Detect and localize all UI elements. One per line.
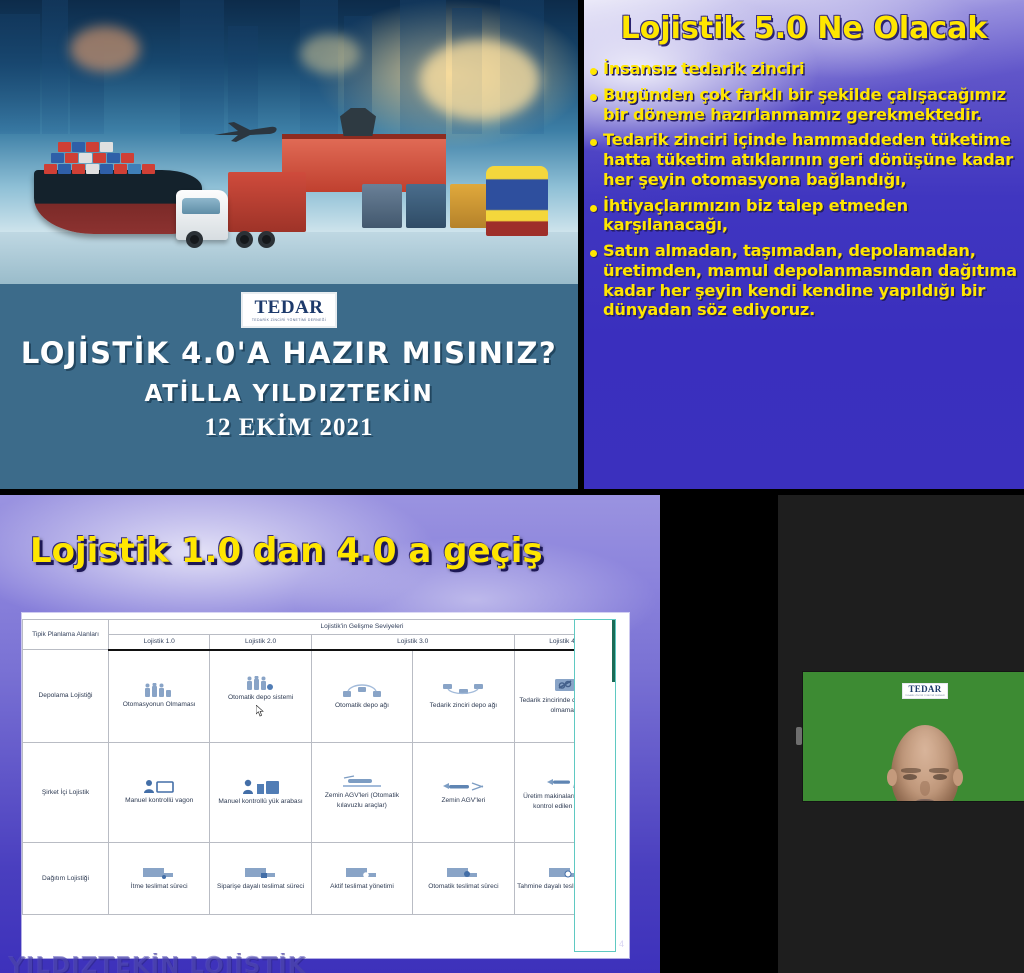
- tedar-logo: TEDAR TEDARİK ZİNCİRİ YÖNETİMİ DERNEĞİ: [902, 683, 948, 699]
- table-cell: Zemin AGV'leri (Otomatik kılavuzlu araçl…: [311, 743, 412, 843]
- bullets-slide-title: Lojistik 5.0 Ne Olacak: [584, 11, 1024, 46]
- bullet-dot-icon: [590, 68, 597, 75]
- quay-ground: [0, 232, 578, 284]
- cell-text: Zemin AGV'leri (Otomatik kılavuzlu araçl…: [325, 792, 399, 809]
- row-label-sirket-ici: Şirket İçi Lojistik: [23, 743, 109, 843]
- tedar-logo-text: TEDAR: [254, 298, 323, 317]
- table-cell: Manuel kontrollü yük arabası: [210, 743, 311, 843]
- row-label-dagitim: Dağıtım Lojistiği: [23, 843, 109, 915]
- supply-chain-icon: [442, 683, 484, 699]
- maturity-table: Tipik Planlama Alanları Lojistik'in Geli…: [22, 619, 616, 915]
- cell-text: Manuel kontrollü vagon: [125, 797, 193, 804]
- table-corner-header: Tipik Planlama Alanları: [23, 620, 109, 650]
- scrollbar-thumb[interactable]: [612, 620, 615, 682]
- column-header-lojistik-3: Lojistik 3.0: [311, 634, 514, 649]
- cell-text: Otomatik teslimat süreci: [428, 883, 498, 890]
- bullet-text: İnsansız tedarik zinciri: [603, 59, 804, 79]
- bullets-slide[interactable]: Lojistik 5.0 Ne Olacak İnsansız tedarik …: [584, 0, 1024, 494]
- table-slide[interactable]: Lojistik 1.0 dan 4.0 a geçiş Tipik Planl…: [0, 495, 660, 973]
- table-cell: Otomatik depo sistemi: [210, 650, 311, 743]
- table-row: Depolama Lojistiği Otomasyonun Olmaması …: [23, 650, 616, 743]
- table-cell: Tedarik zinciri depo ağı: [413, 650, 514, 743]
- truck-window: [182, 198, 220, 214]
- table-cell: Manuel kontrollü vagon: [109, 743, 210, 843]
- chain-warehouse-icon: [554, 678, 576, 694]
- bullet-text: Tedarik zinciri içinde hammaddeden tüket…: [603, 130, 1018, 189]
- list-item: İhtiyaçlarımızın biz talep etmeden karşı…: [590, 196, 1018, 236]
- speaker-name: ATİLLA YILDIZTEKİN: [0, 381, 578, 407]
- table-cell: Otomatik depo ağı: [311, 650, 412, 743]
- table-cell: Zemin AGV'leri: [413, 743, 514, 843]
- tedar-logo-subtitle: TEDARİK ZİNCİRİ YÖNETİMİ DERNEĞİ: [252, 319, 326, 322]
- bullet-dot-icon: [590, 205, 597, 212]
- table-row: Şirket İçi Lojistik Manuel kontrollü vag…: [23, 743, 616, 843]
- avatar: [891, 725, 959, 802]
- page-number: 4: [619, 939, 624, 949]
- bullet-dot-icon: [590, 139, 597, 146]
- row-label-depolama: Depolama Lojistiği: [23, 650, 109, 743]
- participant-video-tile[interactable]: TEDAR TEDARİK ZİNCİRİ YÖNETİMİ DERNEĞİ: [802, 671, 1024, 802]
- truck-active-icon: [345, 866, 379, 880]
- warehouse-icon: [144, 683, 174, 698]
- video-pane: TEDAR TEDARİK ZİNCİRİ YÖNETİMİ DERNEĞİ: [660, 495, 1024, 973]
- tedar-logo-text: TEDAR: [908, 685, 941, 694]
- tedar-logo: TEDAR TEDARİK ZİNCİRİ YÖNETİMİ DERNEĞİ: [241, 292, 337, 328]
- truck-order-icon: [244, 866, 278, 880]
- presentation-date: 12 EKİM 2021: [0, 414, 578, 442]
- title-band: TEDAR TEDARİK ZİNCİRİ YÖNETİMİ DERNEĞİ L…: [0, 284, 578, 494]
- slide-heading: LOJİSTİK 4.0'A HAZIR MISINIZ?: [0, 336, 578, 370]
- bullet-text: Bugünden çok farklı bir şekilde çalışaca…: [603, 85, 1018, 125]
- tedar-logo-subtitle: TEDARİK ZİNCİRİ YÖNETİMİ DERNEĞİ: [905, 695, 945, 697]
- title-slide[interactable]: TEDAR TEDARİK ZİNCİRİ YÖNETİMİ DERNEĞİ L…: [0, 0, 578, 494]
- table-cell: Otomasyonun Olmaması: [109, 650, 210, 743]
- table-cell: Aktif teslimat yönetimi: [311, 843, 412, 915]
- list-item: İnsansız tedarik zinciri: [590, 59, 1018, 79]
- cell-text: Zemin AGV'leri: [441, 797, 485, 804]
- cell-text: Tedarik zinciri depo ağı: [430, 702, 497, 709]
- truck-auto-icon: [446, 866, 480, 880]
- stacked-containers: [44, 138, 184, 174]
- agv-icon: [441, 780, 485, 794]
- screenshare-canvas: TEDAR TEDARİK ZİNCİRİ YÖNETİMİ DERNEĞİ L…: [0, 0, 1024, 973]
- bullet-list: İnsansız tedarik zinciri Bugünden çok fa…: [590, 59, 1018, 320]
- cell-text: Otomatik depo ağı: [335, 702, 389, 709]
- hero-logistics-image: [0, 0, 578, 284]
- truck-trailer: [228, 172, 306, 232]
- bullet-dot-icon: [590, 250, 597, 257]
- person-pallet-icon: [242, 779, 280, 795]
- bullet-text: Satın almadan, taşımadan, depolamadan, ü…: [603, 241, 1018, 320]
- bullet-text: İhtiyaçlarımızın biz talep etmeden karşı…: [603, 196, 1018, 236]
- warehouse-plus-icon: [246, 676, 276, 691]
- table-slide-title: Lojistik 1.0 dan 4.0 a geçiş: [30, 531, 660, 571]
- cell-text: Manuel kontrollü yük arabası: [218, 798, 302, 805]
- warehouse-network-icon: [342, 683, 382, 699]
- column-header-lojistik-1: Lojistik 1.0: [109, 634, 210, 649]
- cell-text: Otomatik depo sistemi: [228, 694, 293, 701]
- cell-text: Siparişe dayalı teslimat süreci: [217, 883, 304, 890]
- list-item: Satın almadan, taşımadan, depolamadan, ü…: [590, 241, 1018, 320]
- truck-icon: [142, 866, 176, 880]
- footer-watermark: YILDIZTEKİN LOJİSTİK: [8, 953, 306, 973]
- table-row: Dağıtım Lojistiği İtme teslimat süreci S…: [23, 843, 616, 915]
- train-icon: [486, 166, 548, 236]
- list-item: Tedarik zinciri içinde hammaddeden tüket…: [590, 130, 1018, 189]
- column-header-lojistik-2: Lojistik 2.0: [210, 634, 311, 649]
- vertical-scrollbar[interactable]: 4: [574, 619, 616, 952]
- bullet-dot-icon: [590, 94, 597, 101]
- table-container[interactable]: Tipik Planlama Alanları Lojistik'in Geli…: [22, 613, 629, 958]
- agv-rail-icon: [340, 775, 384, 789]
- cell-text: İtme teslimat süreci: [131, 883, 188, 890]
- table-group-header: Lojistik'in Gelişme Seviyeleri: [109, 620, 616, 635]
- vertical-divider: [578, 0, 584, 494]
- list-item: Bugünden çok farklı bir şekilde çalışaca…: [590, 85, 1018, 125]
- table-cell: İtme teslimat süreci: [109, 843, 210, 915]
- cell-text: Aktif teslimat yönetimi: [330, 883, 394, 890]
- mouse-cursor-icon: [256, 705, 265, 717]
- cell-text: Otomasyonun Olmaması: [123, 701, 196, 708]
- horizontal-divider: [0, 489, 1024, 495]
- table-cell: Siparişe dayalı teslimat süreci: [210, 843, 311, 915]
- airplane-icon: [212, 122, 278, 142]
- table-cell: Otomatik teslimat süreci: [413, 843, 514, 915]
- manual-cart-icon: [143, 779, 175, 794]
